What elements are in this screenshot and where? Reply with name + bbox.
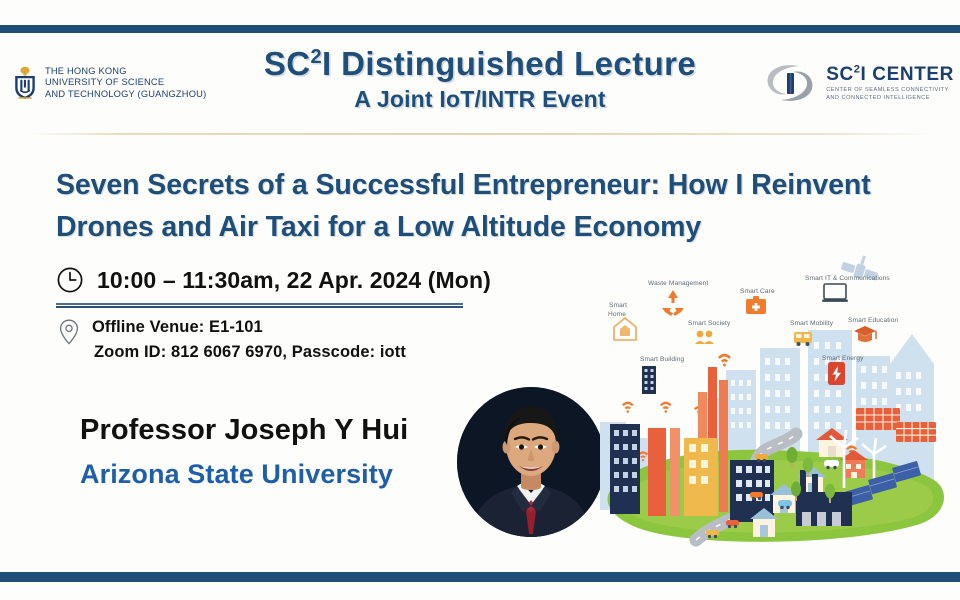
info-label: Smart Mobility: [790, 320, 833, 327]
info-label: Smart Society: [688, 320, 730, 327]
time-underline: [56, 303, 463, 308]
info-label: Smart Education: [848, 317, 898, 324]
sc2i-tagline-2: AND CONNECTED INTELLIGENCE: [826, 95, 930, 101]
info-label: Waste Management: [648, 280, 708, 287]
sc2i-name: SC2I CENTER: [826, 64, 954, 85]
hkust-shield-icon: [12, 66, 38, 100]
info-label: Home: [608, 311, 626, 318]
event-time-row: 10:00 – 11:30am, 22 Apr. 2024 (Mon): [56, 266, 491, 294]
info-label: Smart Care: [740, 288, 775, 295]
sc2i-name-superscript: 2: [854, 64, 861, 76]
sc2i-swirl-icon: [763, 60, 817, 106]
poster-title-rest: I Distinguished Lecture: [322, 45, 696, 82]
sc2i-tagline-1: CENTER OF SEAMLESS CONNECTIVITY: [826, 87, 949, 93]
event-poster: THE HONG KONG UNIVERSITY OF SCIENCE AND …: [0, 0, 960, 600]
info-label: Smart Building: [640, 356, 684, 363]
hkust-line-3: AND TECHNOLOGY (GUANGZHOU): [45, 89, 206, 99]
smart-city-illustration: Waste Management Smart Care Smart IT & C…: [600, 252, 960, 552]
sc2i-tagline: CENTER OF SEAMLESS CONNECTIVITY AND CONN…: [826, 87, 954, 101]
zoom-text: Zoom ID: 812 6067 6970, Passcode: iott: [92, 340, 406, 365]
sc2i-name-post: I CENTER: [861, 64, 954, 85]
poster-header: THE HONG KONG UNIVERSITY OF SCIENCE AND …: [0, 40, 960, 132]
top-accent-bar: [0, 25, 960, 33]
poster-subtitle: A Joint IoT/INTR Event: [185, 84, 775, 114]
sc2i-name-pre: SC: [826, 64, 854, 85]
speaker-name: Professor Joseph Y Hui: [80, 414, 408, 447]
venue-text: Offline Venue: E1-101: [92, 315, 406, 340]
event-location-block: Offline Venue: E1-101 Zoom ID: 812 6067 …: [58, 315, 406, 365]
clock-icon: [56, 266, 84, 294]
lecture-title: Seven Secrets of a Successful Entreprene…: [56, 164, 916, 248]
speaker-affiliation: Arizona State University: [80, 459, 393, 490]
venue-lines: Offline Venue: E1-101 Zoom ID: 812 6067 …: [92, 315, 406, 365]
event-time: 10:00 – 11:30am, 22 Apr. 2024 (Mon): [97, 267, 491, 294]
hkust-line-1: THE HONG KONG: [45, 66, 127, 76]
info-label: Smart Energy: [822, 355, 864, 362]
poster-title-superscript: 2: [311, 46, 323, 68]
map-pin-icon: [58, 318, 80, 346]
header-divider: [28, 133, 934, 135]
bottom-accent-bar: [0, 572, 960, 582]
info-label: Smart IT & Communications: [805, 275, 890, 282]
sc2i-text-block: SC2I CENTER CENTER OF SEAMLESS CONNECTIV…: [826, 64, 954, 101]
poster-title: SC2I Distinguished Lecture: [185, 44, 775, 84]
header-title-block: SC2I Distinguished Lecture A Joint IoT/I…: [185, 44, 775, 114]
info-label: Smart: [609, 302, 627, 309]
speaker-portrait: [457, 387, 605, 537]
hkust-wordmark: THE HONG KONG UNIVERSITY OF SCIENCE AND …: [45, 66, 206, 100]
hkust-line-2: UNIVERSITY OF SCIENCE: [45, 77, 164, 87]
sc2i-center-logo: SC2I CENTER CENTER OF SEAMLESS CONNECTIV…: [763, 60, 954, 106]
hkust-logo: THE HONG KONG UNIVERSITY OF SCIENCE AND …: [12, 66, 206, 100]
poster-title-sc: SC: [264, 45, 311, 82]
